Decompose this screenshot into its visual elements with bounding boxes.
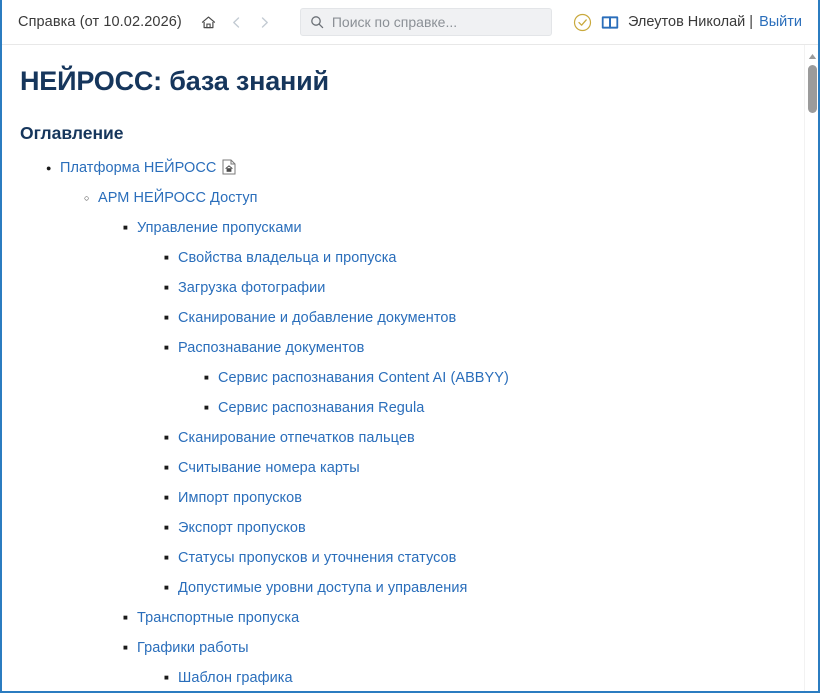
toc-item: ■Загрузка фотографии xyxy=(20,273,794,303)
list-bullet-square-icon: ■ xyxy=(164,303,178,333)
toc-item: ■Шаблон графика xyxy=(20,663,794,692)
toc-link[interactable]: Управление пропусками xyxy=(137,220,302,236)
toc-item: ■Сканирование отпечатков пальцев xyxy=(20,423,794,453)
toc-text-wrap: Распознавание документов xyxy=(178,333,364,363)
search-box[interactable] xyxy=(300,8,552,36)
toc-item: ○АРМ НЕЙРОСС Доступ xyxy=(20,183,794,213)
toc-text-wrap: Управление пропусками xyxy=(137,213,302,243)
home-page-icon[interactable] xyxy=(222,156,236,186)
toc-text-wrap: Считывание номера карты xyxy=(178,453,360,483)
book-icon[interactable] xyxy=(601,15,619,30)
toc-item: ■Импорт пропусков xyxy=(20,483,794,513)
toc-link[interactable]: Сервис распознавания Content AI (ABBYY) xyxy=(218,370,509,386)
toc-item: ■Транспортные пропуска xyxy=(20,603,794,633)
toc-item: ●Платформа НЕЙРОСС xyxy=(20,153,794,183)
list-bullet-square-icon: ■ xyxy=(164,243,178,273)
chevron-left-icon[interactable] xyxy=(224,9,250,35)
navigation-buttons xyxy=(196,9,278,35)
toc-link[interactable]: Шаблон графика xyxy=(178,670,293,686)
toc-link[interactable]: Статусы пропусков и уточнения статусов xyxy=(178,550,456,566)
toc-link[interactable]: Сканирование отпечатков пальцев xyxy=(178,430,415,446)
toc-text-wrap: Сканирование и добавление документов xyxy=(178,303,456,333)
home-icon[interactable] xyxy=(196,9,222,35)
page-title: НЕЙРОСС: база знаний xyxy=(20,63,794,99)
toc-text-wrap: Допустимые уровни доступа и управления xyxy=(178,573,467,603)
toc-item: ■Экспорт пропусков xyxy=(20,513,794,543)
toc-link[interactable]: Свойства владельца и пропуска xyxy=(178,250,397,266)
toc-item: ■Управление пропусками xyxy=(20,213,794,243)
list-bullet-square-icon: ■ xyxy=(164,513,178,543)
window-border-left xyxy=(0,0,2,693)
table-of-contents: ●Платформа НЕЙРОСС○АРМ НЕЙРОСС Доступ■Уп… xyxy=(20,153,794,692)
toc-link[interactable]: Транспортные пропуска xyxy=(137,610,299,626)
toc-item: ■Статусы пропусков и уточнения статусов xyxy=(20,543,794,573)
toc-text-wrap: Экспорт пропусков xyxy=(178,513,306,543)
toc-text-wrap: Платформа НЕЙРОСС xyxy=(60,153,236,186)
list-bullet-square-icon: ■ xyxy=(204,363,218,393)
toc-item: ■Распознавание документов xyxy=(20,333,794,363)
list-bullet-square-icon: ■ xyxy=(164,483,178,513)
list-bullet-square-icon: ■ xyxy=(123,603,137,633)
toc-link[interactable]: Загрузка фотографии xyxy=(178,280,325,296)
toc-link[interactable]: АРМ НЕЙРОСС Доступ xyxy=(98,190,258,206)
toc-link[interactable]: Допустимые уровни доступа и управления xyxy=(178,580,467,596)
toc-item: ■Допустимые уровни доступа и управления xyxy=(20,573,794,603)
toolbar: Справка (от 10.02.2026) xyxy=(0,0,820,45)
scroll-thumb[interactable] xyxy=(808,65,817,113)
list-bullet-square-icon: ■ xyxy=(164,663,178,692)
toc-text-wrap: Свойства владельца и пропуска xyxy=(178,243,397,273)
toc-item: ■Сервис распознавания Regula xyxy=(20,393,794,423)
toc-text-wrap: АРМ НЕЙРОСС Доступ xyxy=(98,183,258,213)
user-name: Элеутов Николай | xyxy=(628,14,753,30)
toc-text-wrap: Сервис распознавания Content AI (ABBYY) xyxy=(218,363,509,393)
list-bullet-square-icon: ■ xyxy=(164,453,178,483)
list-bullet-square-icon: ■ xyxy=(164,543,178,573)
toc-link[interactable]: Сканирование и добавление документов xyxy=(178,310,456,326)
toc-item: ■Сервис распознавания Content AI (ABBYY) xyxy=(20,363,794,393)
section-heading: Оглавление xyxy=(20,121,794,145)
toc-item: ■Сканирование и добавление документов xyxy=(20,303,794,333)
toc-text-wrap: Статусы пропусков и уточнения статусов xyxy=(178,543,456,573)
list-bullet-square-icon: ■ xyxy=(164,333,178,363)
search-input[interactable] xyxy=(332,14,542,30)
help-window: Справка (от 10.02.2026) xyxy=(0,0,820,693)
check-circle-icon[interactable] xyxy=(573,13,592,32)
toc-text-wrap: Транспортные пропуска xyxy=(137,603,299,633)
toc-text-wrap: Графики работы xyxy=(137,633,249,663)
document-body: НЕЙРОСС: база знаний Оглавление ●Платфор… xyxy=(0,45,820,692)
toc-text-wrap: Сервис распознавания Regula xyxy=(218,393,424,423)
chevron-right-icon[interactable] xyxy=(252,9,278,35)
toolbar-right-group: Элеутов Николай | Выйти xyxy=(573,13,806,32)
toc-item: ■Свойства владельца и пропуска xyxy=(20,243,794,273)
list-bullet-square-icon: ■ xyxy=(204,393,218,423)
toc-link[interactable]: Импорт пропусков xyxy=(178,490,302,506)
toc-link[interactable]: Экспорт пропусков xyxy=(178,520,306,536)
toc-link[interactable]: Сервис распознавания Regula xyxy=(218,400,424,416)
list-bullet-square-icon: ■ xyxy=(123,633,137,663)
list-bullet-square-icon: ■ xyxy=(164,423,178,453)
content-area: НЕЙРОСС: база знаний Оглавление ●Платфор… xyxy=(0,45,820,692)
toc-item: ■Графики работы xyxy=(20,633,794,663)
list-bullet-disc-icon: ● xyxy=(46,153,60,183)
logout-link[interactable]: Выйти xyxy=(759,14,802,30)
toc-link[interactable]: Графики работы xyxy=(137,640,249,656)
toc-link[interactable]: Платформа НЕЙРОСС xyxy=(60,160,216,176)
search-icon xyxy=(310,15,324,29)
help-title: Справка (от 10.02.2026) xyxy=(18,14,182,30)
toc-link[interactable]: Считывание номера карты xyxy=(178,460,360,476)
toc-text-wrap: Шаблон графика xyxy=(178,663,293,692)
toc-text-wrap: Сканирование отпечатков пальцев xyxy=(178,423,415,453)
list-bullet-square-icon: ■ xyxy=(164,573,178,603)
toc-item: ■Считывание номера карты xyxy=(20,453,794,483)
list-bullet-square-icon: ■ xyxy=(164,273,178,303)
toc-link[interactable]: Распознавание документов xyxy=(178,340,364,356)
toc-text-wrap: Импорт пропусков xyxy=(178,483,302,513)
list-bullet-circle-icon: ○ xyxy=(84,183,98,213)
list-bullet-square-icon: ■ xyxy=(123,213,137,243)
toc-text-wrap: Загрузка фотографии xyxy=(178,273,325,303)
